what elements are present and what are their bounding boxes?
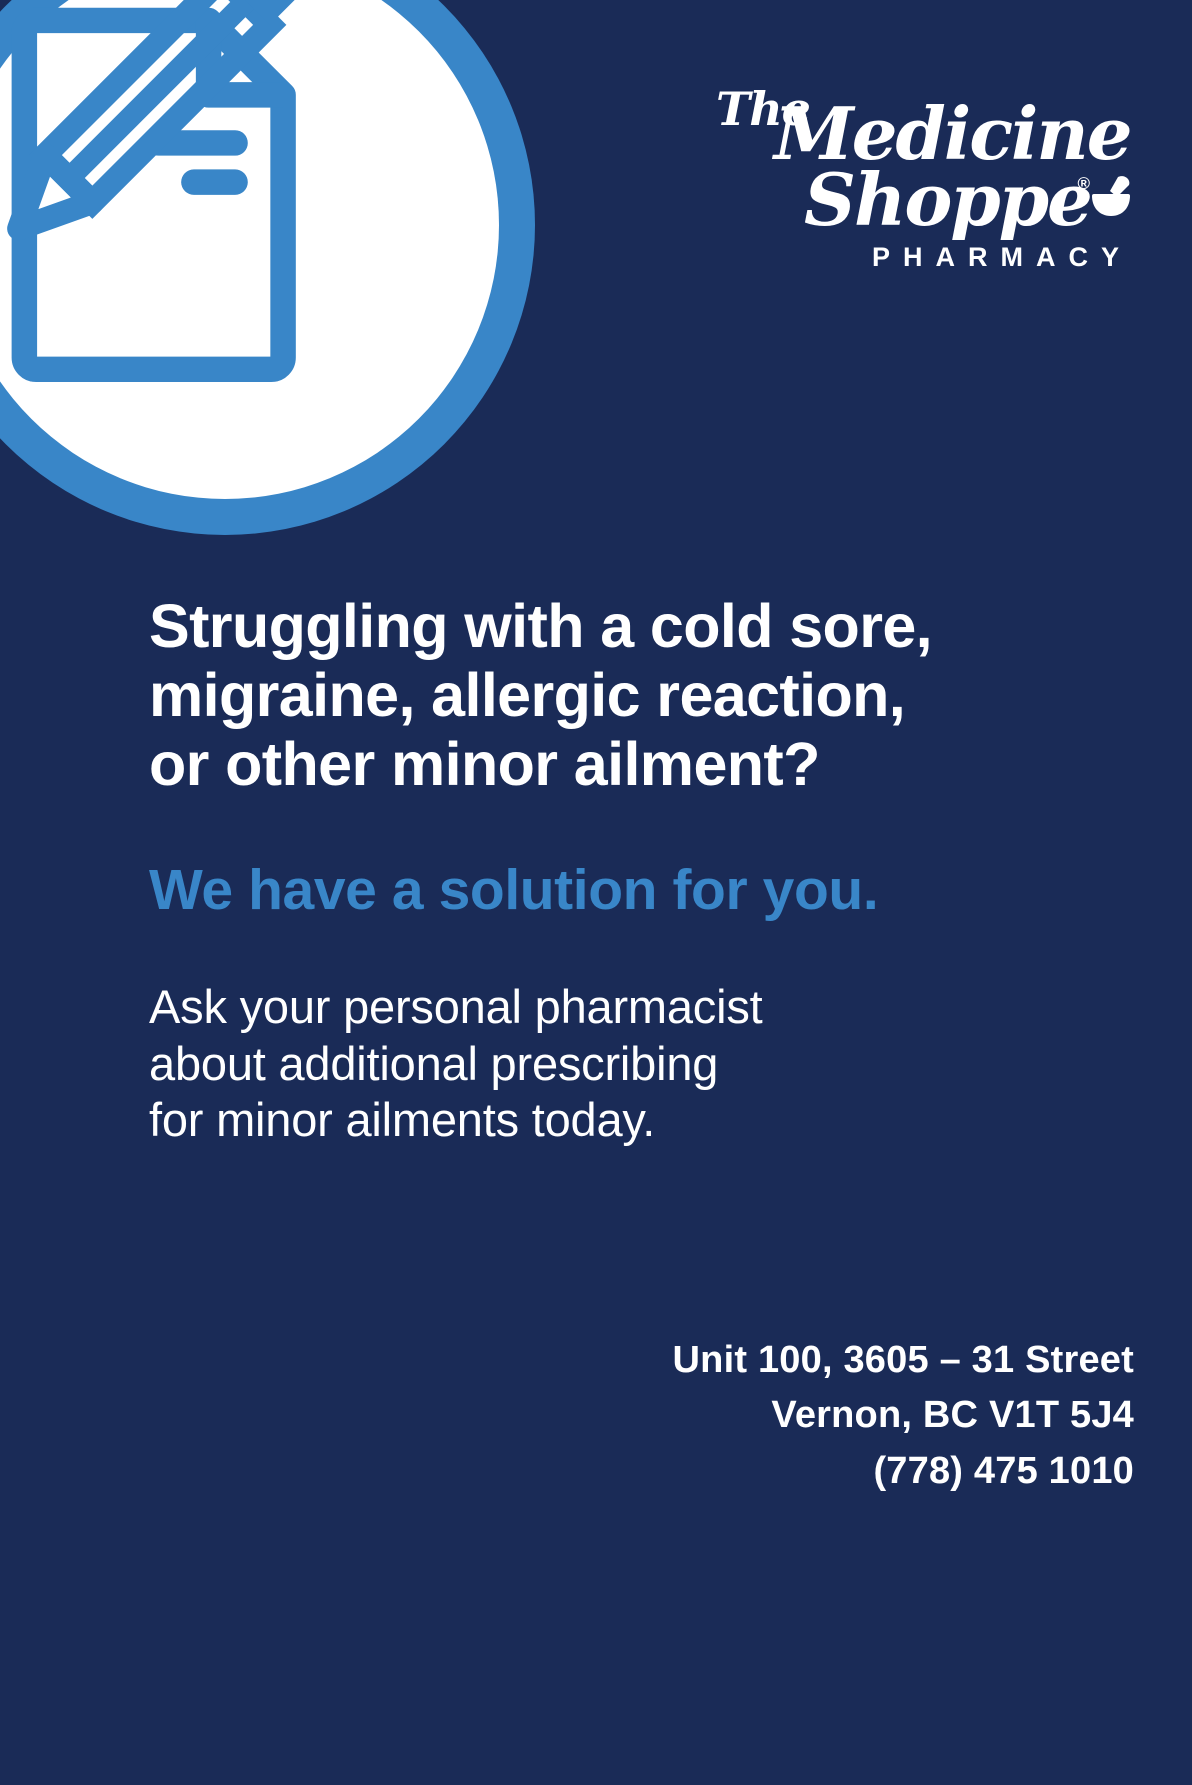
headline-line-1: Struggling with a cold sore,: [149, 592, 1069, 661]
prescription-document-pencil-icon: [0, 0, 385, 385]
headline: Struggling with a cold sore, migraine, a…: [149, 592, 1069, 799]
badge-circle: [0, 0, 535, 535]
main-content: Struggling with a cold sore, migraine, a…: [149, 592, 1069, 1149]
mortar-and-pestle-icon: [1090, 174, 1132, 224]
body-copy-line-3: for minor ailments today.: [149, 1092, 1069, 1148]
subheadline: We have a solution for you.: [149, 859, 1069, 922]
logo-pharmacy-text: PHARMACY: [694, 242, 1134, 273]
logo-script-wordmark: The Medicine Shoppe ®: [694, 78, 1134, 238]
headline-line-3: or other minor ailment?: [149, 730, 1069, 799]
body-copy: Ask your personal pharmacist about addit…: [149, 979, 1069, 1148]
address-city-province-postal: Vernon, BC V1T 5J4: [673, 1388, 1134, 1443]
registered-trademark-icon: ®: [1077, 174, 1090, 194]
address-street: Unit 100, 3605 – 31 Street: [673, 1333, 1134, 1388]
brand-logo: The Medicine Shoppe ® PHARMACY: [694, 78, 1134, 273]
address-phone[interactable]: (778) 475 1010: [673, 1444, 1134, 1499]
logo-shoppe-text: Shoppe: [804, 164, 1091, 236]
body-copy-line-1: Ask your personal pharmacist: [149, 979, 1069, 1035]
pharmacy-poster: The Medicine Shoppe ® PHARMACY Strugglin…: [0, 0, 1192, 1785]
address-block: Unit 100, 3605 – 31 Street Vernon, BC V1…: [673, 1333, 1134, 1499]
headline-line-2: migraine, allergic reaction,: [149, 661, 1069, 730]
body-copy-line-2: about additional prescribing: [149, 1036, 1069, 1092]
